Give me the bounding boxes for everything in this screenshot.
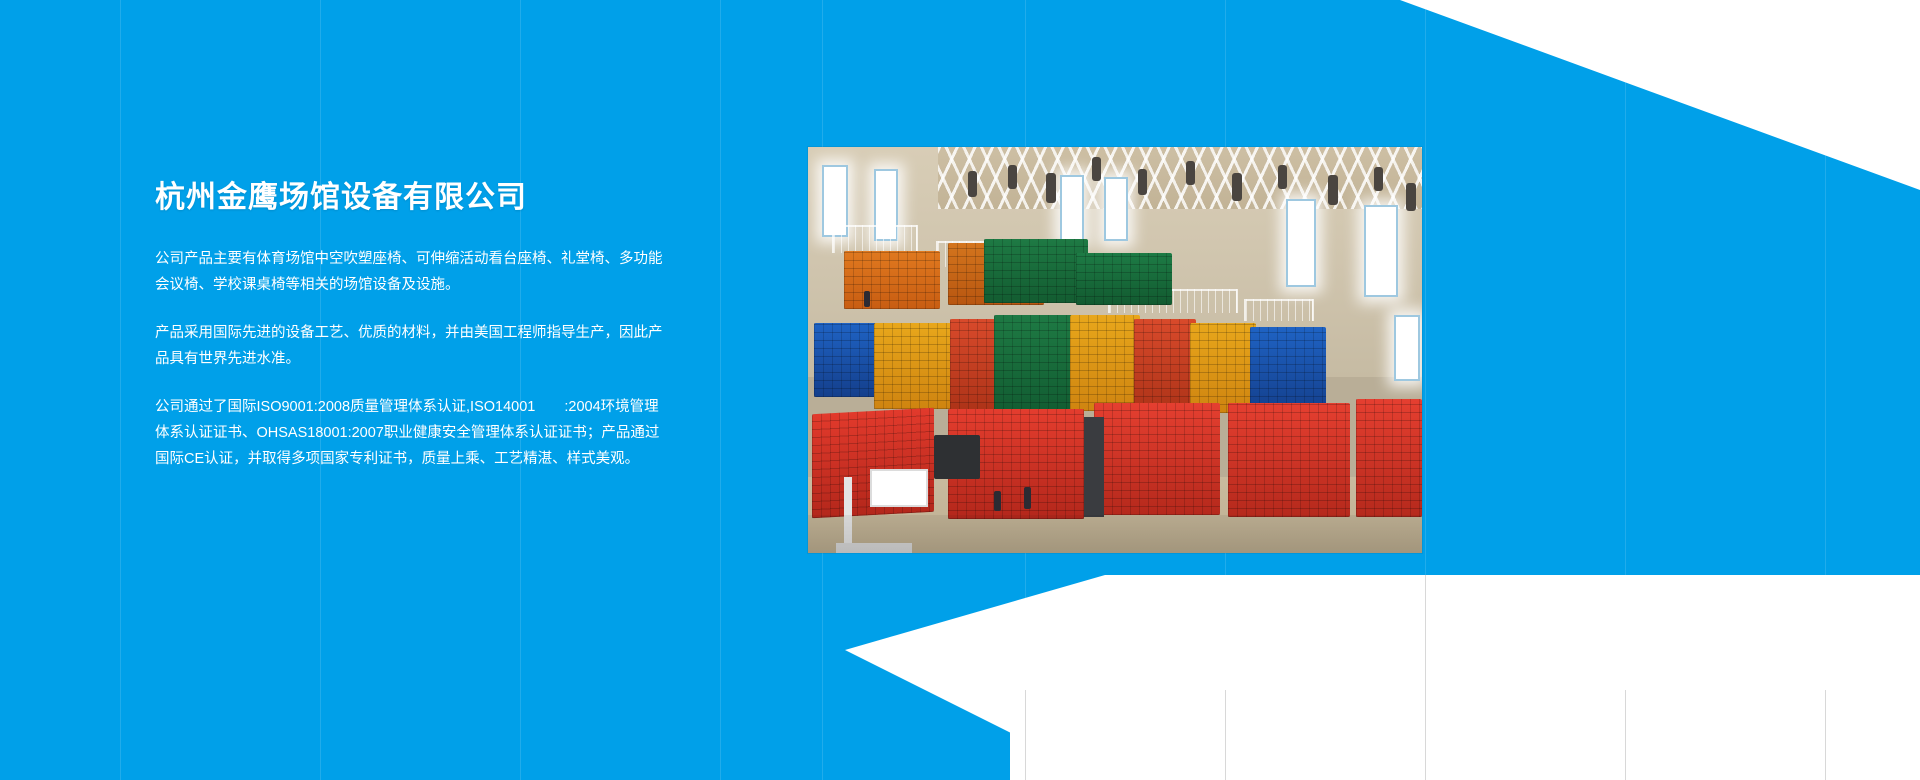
page-title: 杭州金鹰场馆设备有限公司	[155, 180, 665, 216]
bottom-separator-3	[1425, 575, 1426, 780]
hero-banner: 杭州金鹰场馆设备有限公司 公司产品主要有体育场馆中空吹塑座椅、可伸缩活动看台座椅…	[0, 0, 1920, 780]
top-right-white-wedge	[1400, 0, 1920, 190]
gymnasium-photo	[808, 147, 1422, 553]
bottom-separator-5	[1825, 690, 1826, 780]
intro-paragraph-products: 公司产品主要有体育场馆中空吹塑座椅、可伸缩活动看台座椅、礼堂椅、多功能会议椅、学…	[155, 246, 665, 298]
bottom-separator-2	[1225, 690, 1226, 780]
bottom-separator-1	[1025, 690, 1026, 780]
intro-paragraph-quality: 产品采用国际先进的设备工艺、优质的材料，并由美国工程师指导生产，因此产品具有世界…	[155, 320, 665, 372]
hero-text-column: 杭州金鹰场馆设备有限公司 公司产品主要有体育场馆中空吹塑座椅、可伸缩活动看台座椅…	[155, 180, 665, 472]
left-pointing-arrow-shape	[845, 575, 1405, 780]
gymnasium-photo-image	[808, 147, 1422, 553]
intro-paragraph-certifications: 公司通过了国际ISO9001:2008质量管理体系认证,ISO14001 :20…	[155, 394, 665, 472]
bottom-separator-4	[1625, 690, 1626, 780]
